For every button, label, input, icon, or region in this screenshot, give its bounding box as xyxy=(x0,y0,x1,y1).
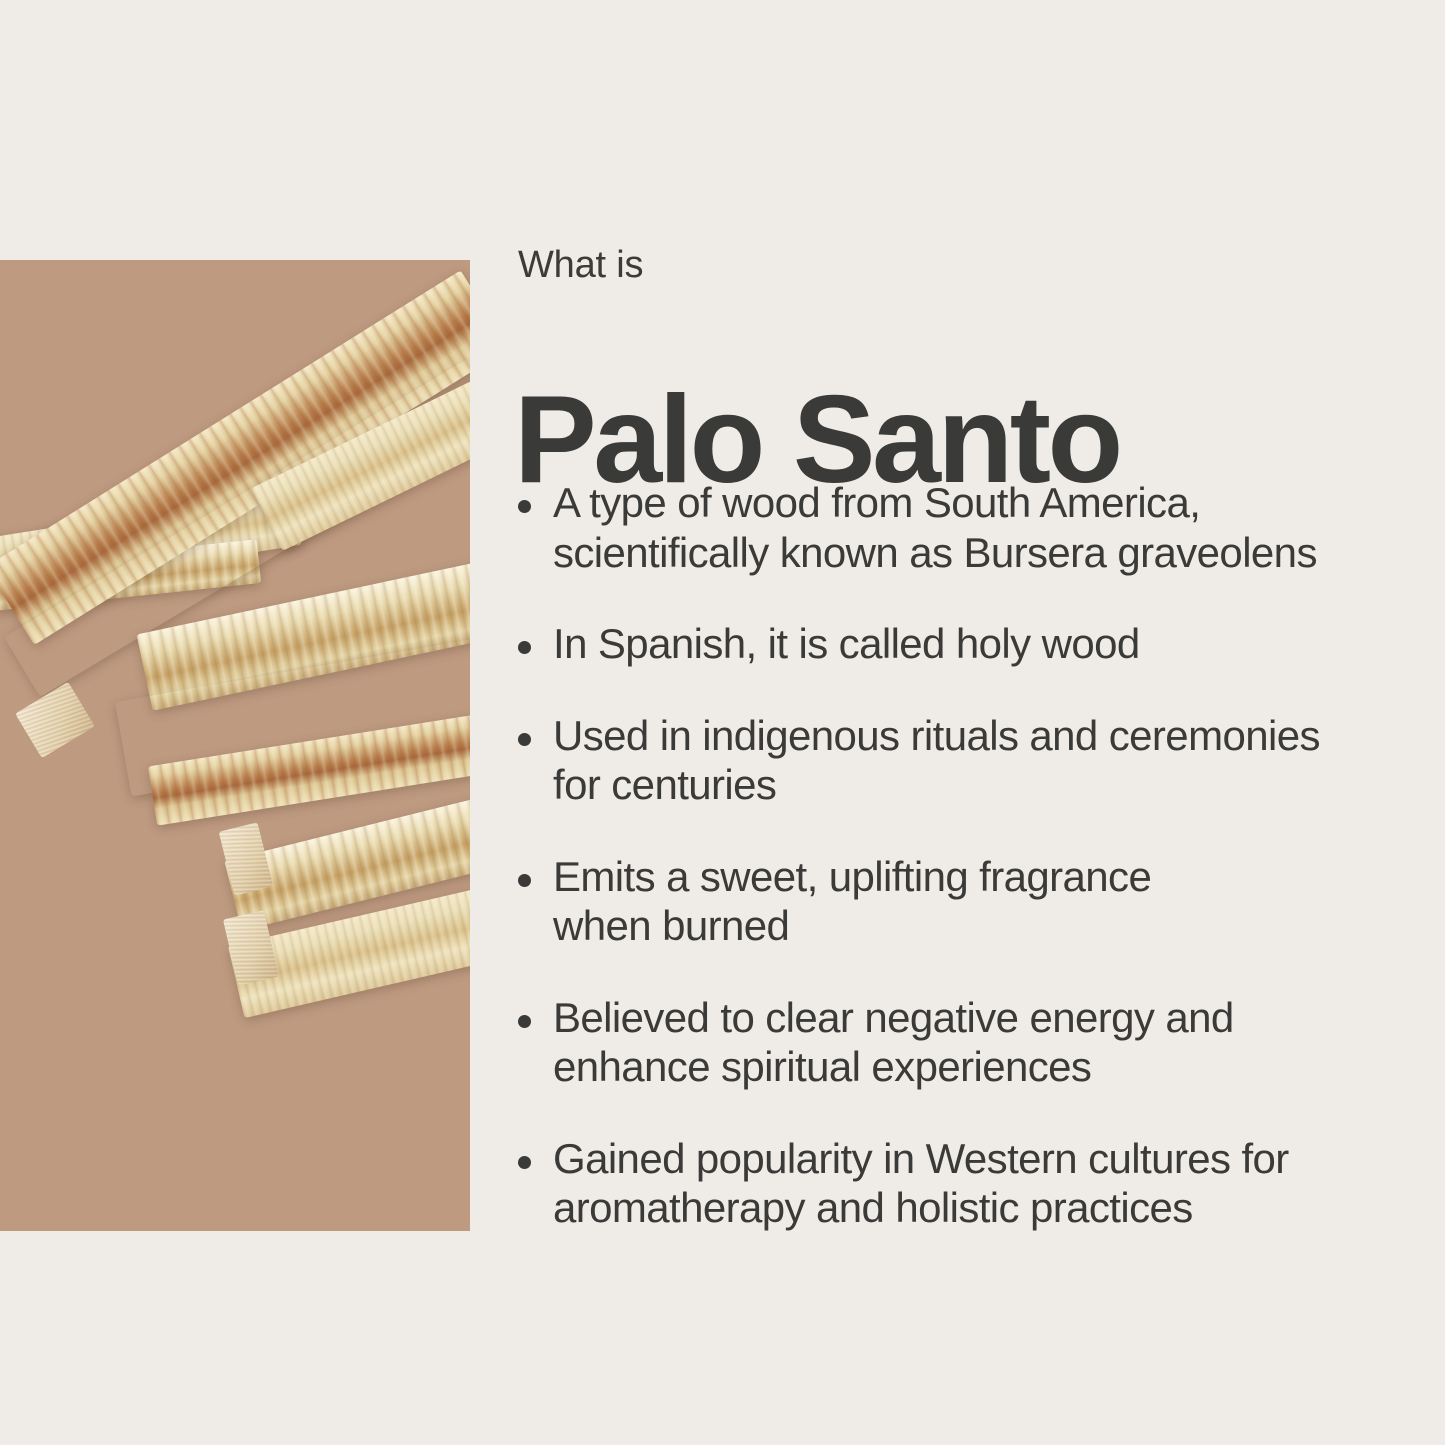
bullet-dot-icon xyxy=(518,641,531,654)
list-item-text: In Spanish, it is called holy wood xyxy=(553,619,1378,669)
list-item-text: Emits a sweet, uplifting fragrance when … xyxy=(553,852,1378,951)
wood-stick-endcut-face xyxy=(15,682,95,759)
bullet-dot-icon xyxy=(518,1156,531,1169)
bullet-dot-icon xyxy=(518,500,531,513)
list-item: In Spanish, it is called holy wood xyxy=(518,619,1378,669)
list-item-text: Used in indigenous rituals and ceremonie… xyxy=(553,711,1378,810)
infographic-canvas: What is Palo Santo A type of wood from S… xyxy=(0,0,1445,1445)
bullet-dot-icon xyxy=(518,874,531,887)
list-item-text: A type of wood from South America, scien… xyxy=(553,478,1378,577)
facts-list: A type of wood from South America, scien… xyxy=(518,478,1378,1275)
list-item: Used in indigenous rituals and ceremonie… xyxy=(518,711,1378,810)
list-item-text: Gained popularity in Western cultures fo… xyxy=(553,1134,1378,1233)
list-item: Believed to clear negative energy and en… xyxy=(518,993,1378,1092)
list-item: Gained popularity in Western cultures fo… xyxy=(518,1134,1378,1233)
eyebrow-label: What is xyxy=(518,246,643,284)
bullet-dot-icon xyxy=(518,1015,531,1028)
content-column: What is Palo Santo A type of wood from S… xyxy=(518,0,1378,1445)
palo-santo-photo-panel xyxy=(0,260,470,1231)
wood-stick-lower-diagonal-1-endcut xyxy=(219,822,274,896)
list-item-text: Believed to clear negative energy and en… xyxy=(553,993,1378,1092)
list-item: A type of wood from South America, scien… xyxy=(518,478,1378,577)
bullet-dot-icon xyxy=(518,733,531,746)
list-item: Emits a sweet, uplifting fragrance when … xyxy=(518,852,1378,951)
